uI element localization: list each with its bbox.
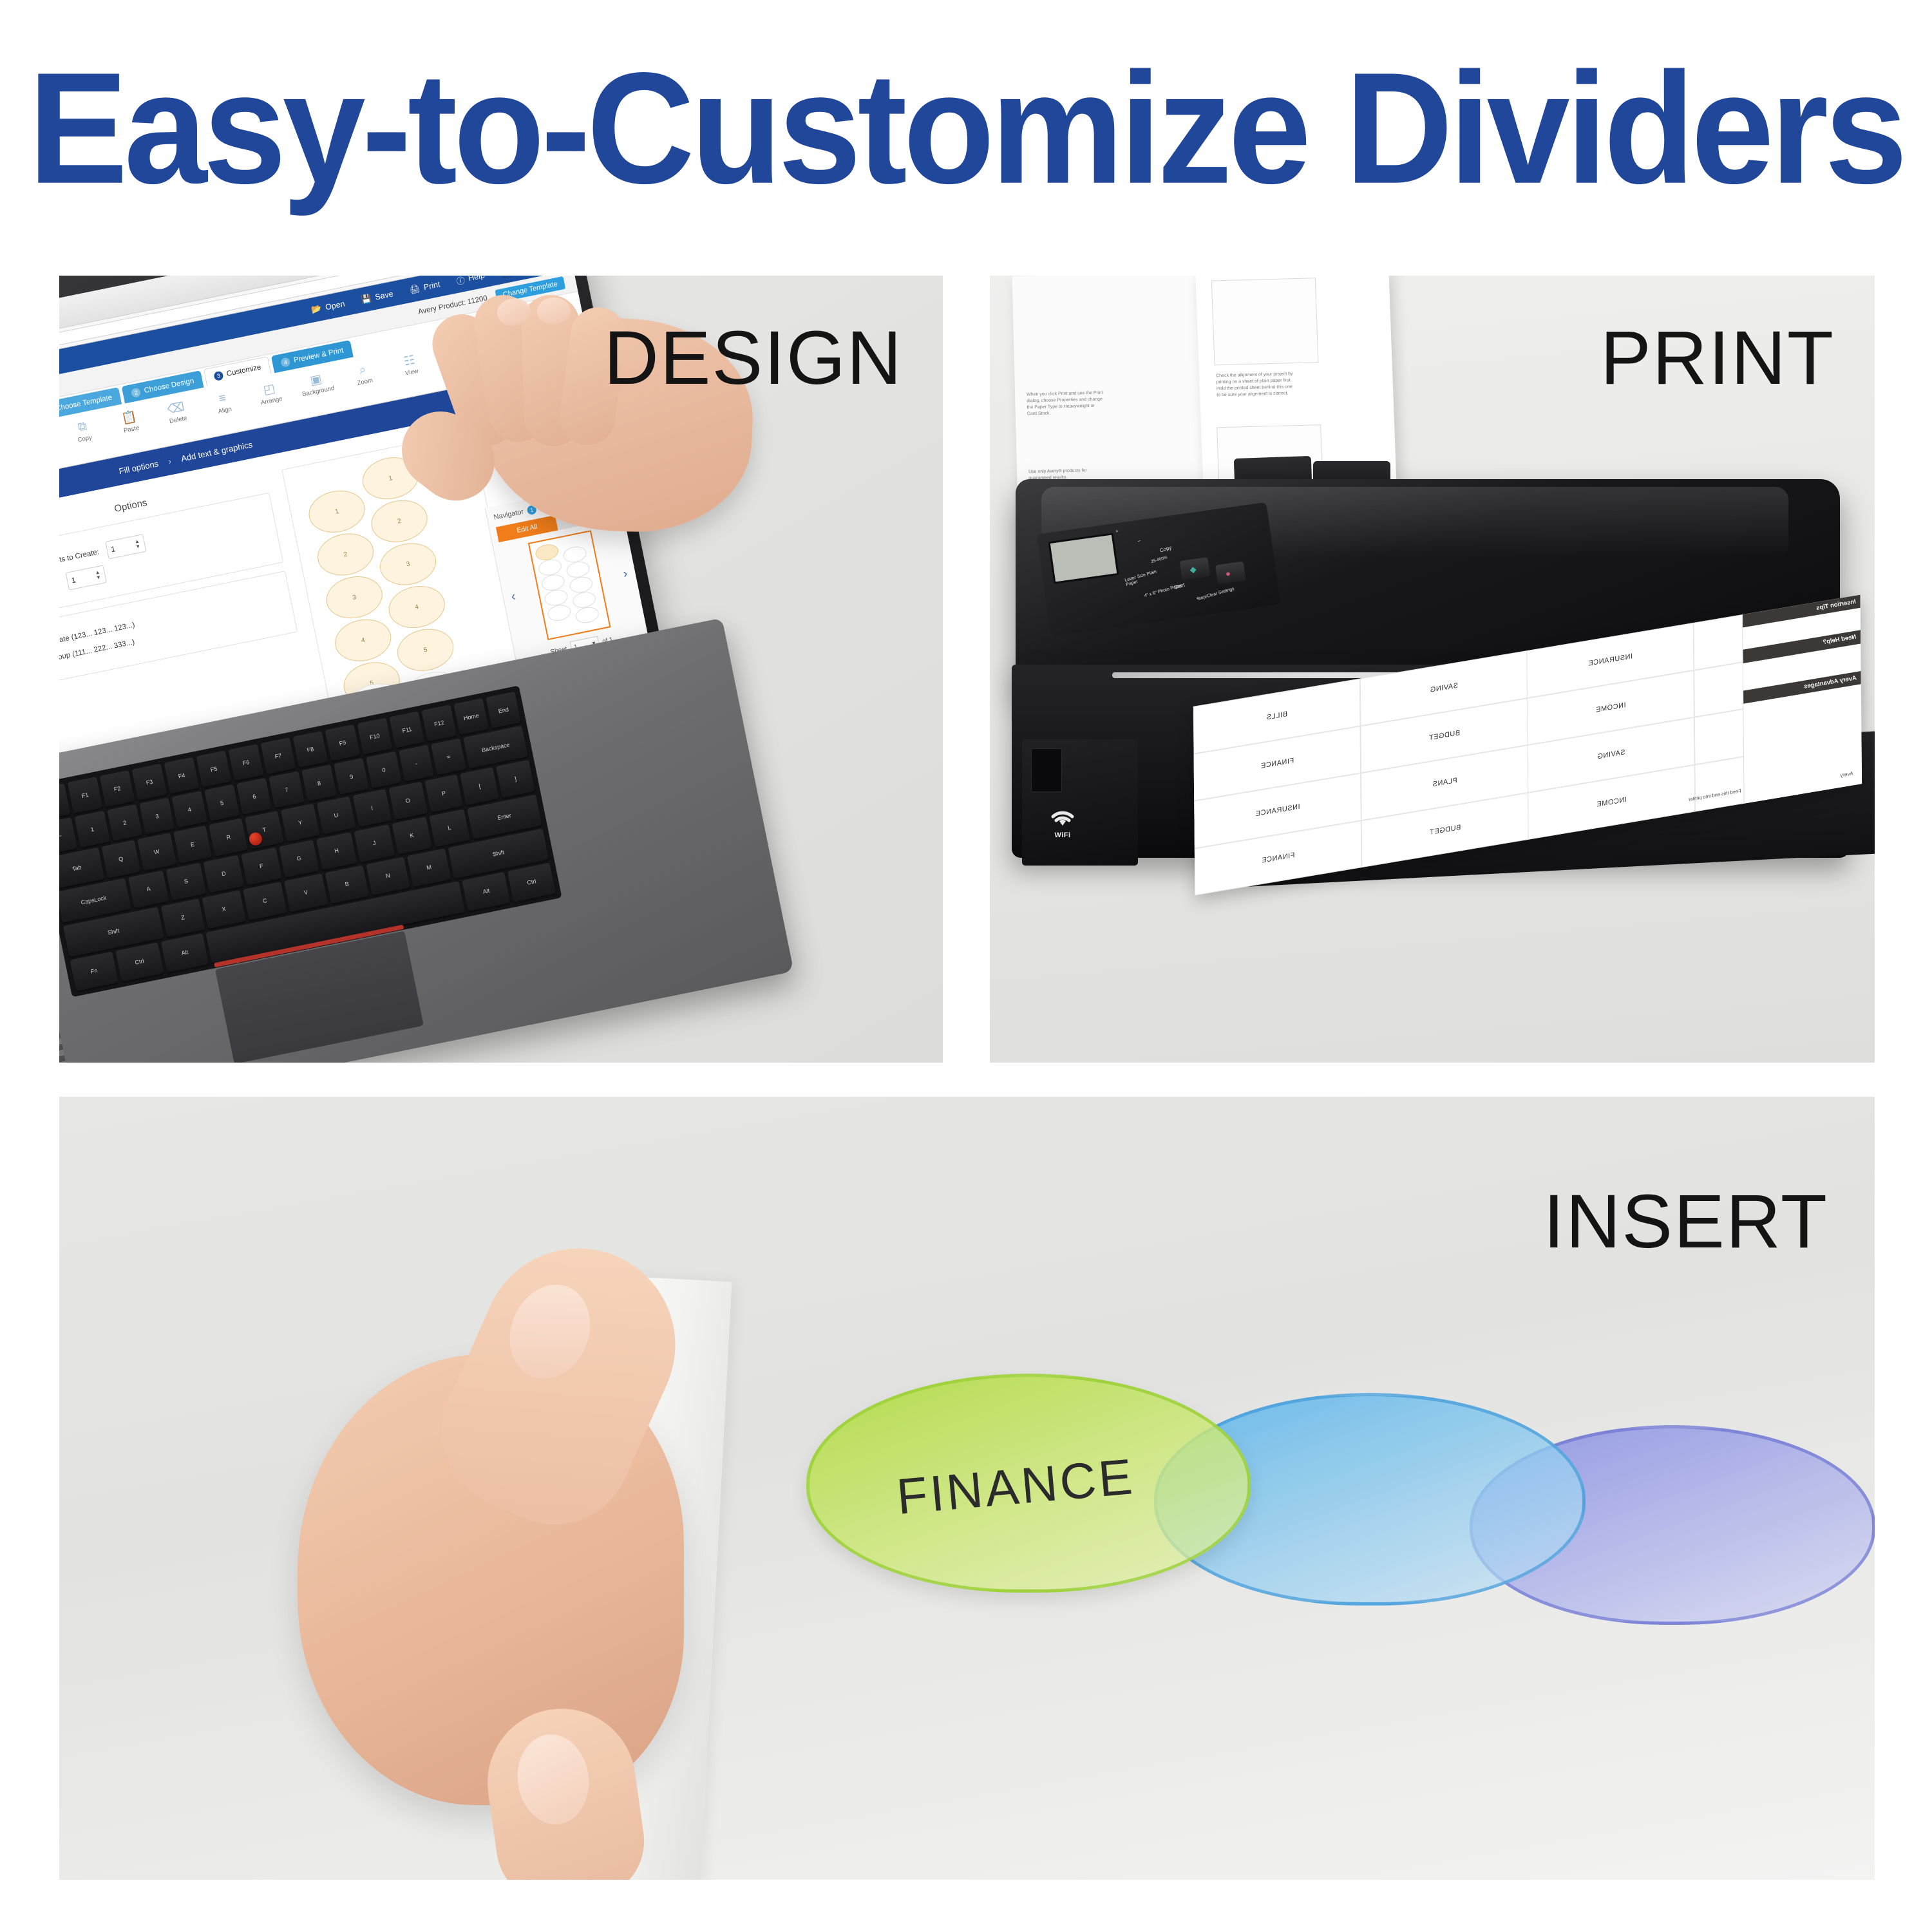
band-avery-advantages: Avery Advantages (1743, 671, 1861, 704)
key[interactable]: D (204, 855, 244, 893)
key[interactable]: E (173, 826, 213, 864)
start-on-set-stepper[interactable]: 1 ▲▼ (65, 565, 106, 590)
key[interactable]: U (317, 797, 356, 835)
key[interactable]: 6 (236, 778, 272, 815)
chevron-right-icon: › (167, 456, 172, 466)
key[interactable]: 3 (139, 797, 175, 834)
key[interactable]: F1 (68, 777, 103, 813)
sheet-body-text: When you click Print and see the Print d… (1027, 390, 1104, 418)
key[interactable]: M (407, 848, 451, 887)
preview-tab[interactable]: 4 (385, 581, 449, 632)
sheet-bullet-1: Check the alignment of your project by p… (1216, 371, 1294, 399)
key[interactable]: S (166, 862, 206, 900)
key[interactable]: 7 (269, 772, 304, 808)
panel-design: 🔍 ☆ 🖶 ↓ ⌂ ☰ ↻ ⚲ Google (59, 276, 943, 1063)
wifi-icon: WiFi (1041, 806, 1084, 846)
key[interactable]: F6 (228, 744, 263, 781)
zoom-range-label: 25-400% (1150, 555, 1168, 564)
stop-clear-label: Stop/Clear Settings (1197, 584, 1245, 602)
tool-arrange[interactable]: ◰ Arrange (251, 378, 289, 408)
tool-copy[interactable]: ⧉ Copy (64, 416, 102, 446)
field-start-on-set-label: Start on Set: (59, 580, 61, 596)
key[interactable]: ~ (59, 817, 78, 854)
preview-tab[interactable]: 3 (323, 571, 386, 623)
key[interactable]: O (388, 782, 428, 820)
printer-front-panel: WiFi (1022, 739, 1138, 866)
key[interactable]: Q (101, 840, 140, 878)
panel-print: When you click Print and see the Print d… (990, 276, 1875, 1063)
breadcrumb-add-text[interactable]: Add text & graphics (180, 439, 253, 463)
start-icon: ◆ (1189, 564, 1197, 575)
tool-delete[interactable]: ⌫ Delete (158, 397, 195, 427)
key[interactable]: V (284, 873, 328, 912)
key[interactable]: Alt (160, 933, 209, 973)
illustration-box (1211, 278, 1319, 365)
key[interactable]: Y (281, 804, 320, 842)
key[interactable]: End (486, 692, 521, 728)
tab-customize-label: Customize (226, 363, 262, 378)
key[interactable]: 9 (334, 758, 369, 795)
band-need-help: Need Help? (1743, 630, 1861, 663)
key[interactable]: F3 (132, 764, 167, 800)
minus-button-label[interactable]: − (1137, 538, 1141, 544)
key[interactable]: A (128, 870, 169, 908)
folder-open-icon: 📂 (310, 303, 323, 316)
copy-label: Copy (1159, 545, 1172, 554)
step-number-3: 3 (213, 370, 224, 381)
key[interactable]: F (241, 847, 281, 885)
key[interactable]: N (366, 857, 410, 895)
panel-insert: FINANCE INSERT (59, 1097, 1875, 1880)
preview-tab[interactable]: 5 (393, 624, 457, 676)
breadcrumb-fill-options[interactable]: Fill options (118, 459, 159, 476)
key[interactable]: F2 (100, 770, 135, 807)
key[interactable]: Home (453, 698, 489, 735)
panel-label-insert: INSERT (1543, 1178, 1828, 1265)
key[interactable]: F10 (357, 718, 392, 755)
number-of-sets-value: 1 (110, 544, 116, 554)
key[interactable]: F4 (164, 757, 200, 794)
memory-card-slot[interactable] (1031, 748, 1062, 792)
hand-inserting-tab (220, 1258, 929, 1876)
key[interactable]: ] (496, 760, 535, 798)
start-label: Start (1173, 582, 1186, 591)
key[interactable]: X (202, 890, 246, 929)
key[interactable]: H (316, 832, 357, 870)
key[interactable]: B (325, 865, 369, 904)
key[interactable]: Ctrl (507, 862, 556, 902)
key[interactable]: P (424, 775, 464, 813)
key[interactable]: J (354, 824, 394, 862)
key[interactable]: F5 (196, 750, 231, 787)
key[interactable]: Z (161, 898, 205, 937)
key[interactable]: I (352, 789, 392, 827)
panel-label-design: DESIGN (604, 314, 903, 402)
key[interactable]: 4 (172, 791, 207, 828)
key[interactable]: 2 (107, 804, 142, 841)
step-number-4: 4 (280, 357, 291, 368)
tool-background[interactable]: ▣ Background (298, 368, 336, 399)
key[interactable]: G (279, 839, 319, 877)
page-title: Easy-to-Customize Dividers (28, 50, 1904, 208)
number-of-sets-stepper[interactable]: 1 ▲▼ (105, 534, 146, 559)
key[interactable]: W (137, 833, 176, 871)
printer-lcd-display (1048, 533, 1119, 584)
title-bar: Easy-to-Customize Dividers (0, 0, 1932, 258)
step-number-2: 2 (131, 387, 142, 398)
letter-size-label: Letter Size Plain Paper (1124, 566, 1170, 587)
preview-tab[interactable]: 1 (305, 486, 369, 537)
plus-button-label[interactable]: + (1115, 528, 1119, 535)
key[interactable]: 5 (204, 784, 240, 821)
key[interactable]: Fn (70, 951, 118, 991)
key[interactable]: F12 (421, 705, 457, 741)
key[interactable]: L (429, 809, 469, 847)
stepper-arrows-icon[interactable]: ▲▼ (95, 570, 102, 581)
key[interactable]: F11 (389, 711, 424, 748)
key[interactable]: Alt (462, 872, 510, 912)
prev-sheet-icon[interactable]: ‹ (510, 589, 517, 605)
key[interactable]: [ (460, 767, 500, 805)
key[interactable]: Ctrl (115, 942, 164, 982)
key[interactable]: - (399, 745, 434, 782)
key[interactable]: F7 (260, 737, 296, 774)
key[interactable]: R (209, 819, 248, 857)
start-on-set-value: 1 (71, 575, 77, 585)
key[interactable]: K (392, 817, 432, 855)
key[interactable]: F9 (325, 724, 360, 761)
topbar-open[interactable]: 📂 Open (310, 299, 346, 316)
key[interactable]: 8 (301, 764, 337, 801)
topbar-open-label: Open (325, 299, 346, 312)
stepper-arrows-icon[interactable]: ▲▼ (134, 538, 141, 549)
key[interactable]: F8 (292, 731, 328, 768)
inkjet-printer: + − Copy 25-400% Letter Size Plain Paper… (996, 479, 1875, 994)
key[interactable]: C (243, 882, 287, 920)
key[interactable]: Tab (59, 848, 104, 889)
tool-align[interactable]: ≡ Align (205, 387, 242, 417)
tool-paste[interactable]: 📋 Paste (111, 406, 148, 437)
preview-tab[interactable]: 4 (331, 614, 395, 666)
panel-label-print: PRINT (1600, 314, 1835, 402)
key[interactable]: = (431, 738, 466, 775)
wifi-label: WiFi (1041, 831, 1084, 839)
key[interactable]: 1 (75, 811, 110, 848)
key[interactable]: 0 (366, 752, 401, 788)
